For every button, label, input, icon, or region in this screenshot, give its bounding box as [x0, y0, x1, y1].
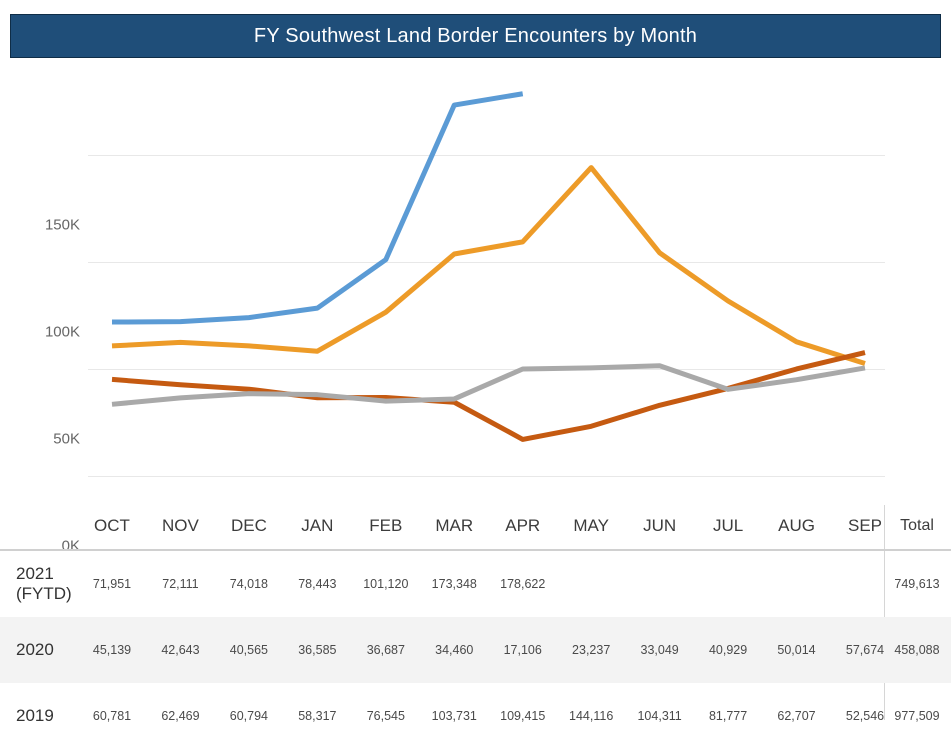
table-column-headers: OCTNOVDECJANFEBMARAPRMAYJUNJULAUGSEPTota…: [0, 505, 951, 547]
table-cell-total: 458,088: [886, 643, 948, 657]
table-cell: 173,348: [421, 577, 487, 591]
data-table: 2021(FYTD)71,95172,11174,01878,443101,12…: [0, 551, 951, 748]
table-cell-total: 977,509: [886, 709, 948, 723]
page-title: FY Southwest Land Border Encounters by M…: [254, 25, 697, 48]
table-cell: 62,707: [764, 709, 830, 723]
table-cell: 103,731: [421, 709, 487, 723]
table-cell: 72,111: [147, 577, 213, 591]
table-cell: 36,687: [353, 643, 419, 657]
table-cell: 23,237: [558, 643, 624, 657]
table-cell: 144,116: [558, 709, 624, 723]
column-header-jan: JAN: [284, 505, 350, 547]
column-header-oct: OCT: [79, 505, 145, 547]
table-cell: 33,049: [627, 643, 693, 657]
table-row: 202045,13942,64340,56536,58536,68734,460…: [0, 617, 951, 683]
row-label: 2021(FYTD): [16, 564, 72, 604]
chart-series-line: [112, 366, 865, 405]
table-cell: 81,777: [695, 709, 761, 723]
table-cell: 36,585: [284, 643, 350, 657]
column-header-jun: JUN: [627, 505, 693, 547]
table-cell: 40,565: [216, 643, 282, 657]
table-cell: 34,460: [421, 643, 487, 657]
column-header-apr: APR: [490, 505, 556, 547]
table-cell: 71,951: [79, 577, 145, 591]
table-row: 201960,78162,46960,79458,31776,545103,73…: [0, 683, 951, 748]
column-header-may: MAY: [558, 505, 624, 547]
chart-plot-svg: [0, 70, 951, 500]
column-header-jul: JUL: [695, 505, 761, 547]
table-cell: 104,311: [627, 709, 693, 723]
column-header-total: Total: [886, 505, 948, 547]
column-header-mar: MAR: [421, 505, 487, 547]
chart-series-line: [112, 94, 523, 322]
table-cell: 76,545: [353, 709, 419, 723]
table-cell: 45,139: [79, 643, 145, 657]
table-cell: 58,317: [284, 709, 350, 723]
table-cell: 17,106: [490, 643, 556, 657]
table-cell: 101,120: [353, 577, 419, 591]
table-cell: 40,929: [695, 643, 761, 657]
table-cell: 60,781: [79, 709, 145, 723]
row-label: 2020: [16, 640, 54, 660]
column-header-feb: FEB: [353, 505, 419, 547]
table-row: 2021(FYTD)71,95172,11174,01878,443101,12…: [0, 551, 951, 617]
table-cell: 42,643: [147, 643, 213, 657]
table-cell: 78,443: [284, 577, 350, 591]
row-label: 2019: [16, 706, 54, 726]
table-cell: 60,794: [216, 709, 282, 723]
table-cell: 109,415: [490, 709, 556, 723]
chart-title-bar: FY Southwest Land Border Encounters by M…: [10, 14, 941, 58]
table-cell: 62,469: [147, 709, 213, 723]
chart-series-line: [112, 168, 865, 364]
line-chart: 0K50K100K150K: [0, 70, 951, 500]
column-header-dec: DEC: [216, 505, 282, 547]
table-cell-total: 749,613: [886, 577, 948, 591]
column-header-aug: AUG: [764, 505, 830, 547]
table-cell: 74,018: [216, 577, 282, 591]
table-cell: 178,622: [490, 577, 556, 591]
table-cell: 50,014: [764, 643, 830, 657]
column-header-nov: NOV: [147, 505, 213, 547]
